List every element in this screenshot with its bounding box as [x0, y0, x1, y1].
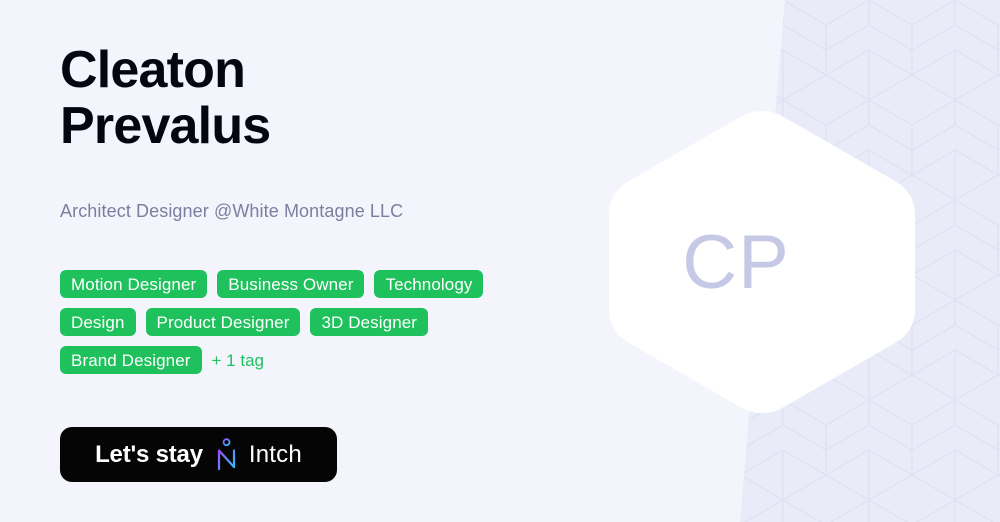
- profile-name-line-2: Prevalus: [60, 97, 270, 155]
- tag-chip[interactable]: Technology: [374, 270, 483, 298]
- tag-chip[interactable]: 3D Designer: [310, 308, 428, 336]
- tag-chip[interactable]: Design: [60, 308, 136, 336]
- tag-chip[interactable]: Brand Designer: [60, 346, 202, 374]
- more-tags-label[interactable]: + 1 tag: [212, 346, 264, 374]
- cta-lead-text: Let's stay: [95, 441, 203, 469]
- profile-name-line-1: Cleaton: [60, 41, 245, 99]
- tag-chip[interactable]: Product Designer: [146, 308, 301, 336]
- avatar-initials: CP: [607, 107, 917, 417]
- profile-content: CleatonPrevalus Architect Designer @Whit…: [60, 0, 600, 522]
- tag-chip[interactable]: Business Owner: [217, 270, 364, 298]
- lets-stay-intch-button[interactable]: Let's stay Intch: [60, 427, 337, 482]
- profile-subtitle: Architect Designer @White Montagne LLC: [60, 198, 403, 224]
- intch-n-logo-icon: [214, 438, 240, 472]
- page-title: CleatonPrevalus: [60, 42, 270, 154]
- tag-chip[interactable]: Motion Designer: [60, 270, 207, 298]
- cta-brand-text: Intch: [249, 441, 302, 469]
- profile-card: CP CleatonPrevalus Architect Designer @W…: [0, 0, 1000, 522]
- avatar: CP: [607, 107, 917, 417]
- tag-list: Motion Designer Business Owner Technolog…: [60, 270, 560, 374]
